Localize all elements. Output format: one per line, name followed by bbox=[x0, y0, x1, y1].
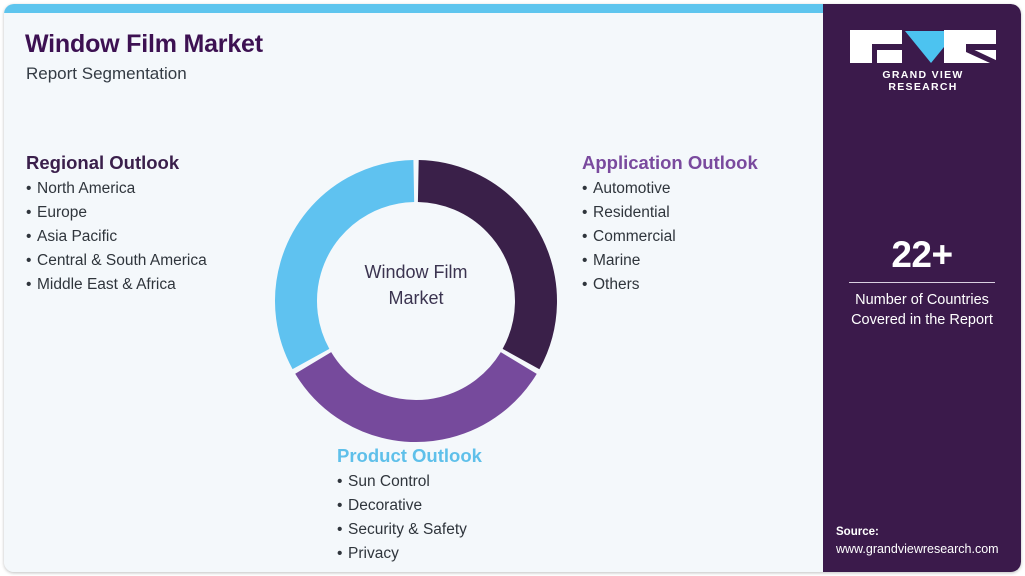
bullet-icon: • bbox=[26, 177, 37, 201]
list-item: •Europe bbox=[26, 201, 207, 225]
list-item-label: Marine bbox=[593, 252, 640, 269]
list-item-label: Asia Pacific bbox=[37, 228, 117, 245]
list-item: •Privacy bbox=[337, 542, 482, 566]
bullet-icon: • bbox=[337, 494, 348, 518]
bullet-icon: • bbox=[26, 225, 37, 249]
list-item-label: Security & Safety bbox=[348, 521, 467, 538]
logo-mark bbox=[850, 30, 996, 63]
list-item: •Security & Safety bbox=[337, 518, 482, 542]
bullet-icon: • bbox=[26, 273, 37, 297]
bullet-icon: • bbox=[26, 201, 37, 225]
product-outlook-block: Product Outlook •Sun Control •Decorative… bbox=[337, 445, 482, 566]
list-item-label: Automotive bbox=[593, 180, 671, 197]
grand-view-research-logo: GRAND VIEW RESEARCH bbox=[850, 30, 996, 82]
list-item-label: Decorative bbox=[348, 497, 422, 514]
regional-outlook-list: •North America •Europe •Asia Pacific •Ce… bbox=[26, 177, 207, 297]
side-panel: GRAND VIEW RESEARCH 22+ Number of Countr… bbox=[823, 4, 1021, 572]
list-item: •Middle East & Africa bbox=[26, 273, 207, 297]
infographic-root: Window Film Market Report Segmentation R… bbox=[0, 0, 1025, 576]
list-item-label: Others bbox=[593, 276, 640, 293]
list-item-label: Sun Control bbox=[348, 473, 430, 490]
application-outlook-heading: Application Outlook bbox=[582, 152, 758, 174]
stat-caption-line-1: Number of Countries bbox=[823, 290, 1021, 310]
bullet-icon: • bbox=[582, 177, 593, 201]
list-item: •Commercial bbox=[582, 225, 758, 249]
list-item-label: Privacy bbox=[348, 545, 399, 562]
list-item: •Decorative bbox=[337, 494, 482, 518]
page-title: Window Film Market bbox=[25, 30, 263, 59]
bullet-icon: • bbox=[337, 470, 348, 494]
donut-chart: Window Film Market bbox=[270, 155, 562, 447]
list-item: •Asia Pacific bbox=[26, 225, 207, 249]
page-subtitle: Report Segmentation bbox=[26, 64, 187, 84]
stat-number: 22+ bbox=[823, 234, 1021, 276]
application-outlook-list: •Automotive •Residential •Commercial •Ma… bbox=[582, 177, 758, 297]
regional-outlook-heading: Regional Outlook bbox=[26, 152, 207, 174]
source-label: Source: bbox=[836, 524, 1021, 540]
list-item-label: Europe bbox=[37, 204, 87, 221]
list-item-label: Middle East & Africa bbox=[37, 276, 176, 293]
product-outlook-list: •Sun Control •Decorative •Security & Saf… bbox=[337, 470, 482, 566]
list-item: •North America bbox=[26, 177, 207, 201]
bullet-icon: • bbox=[582, 249, 593, 273]
bullet-icon: • bbox=[582, 225, 593, 249]
bullet-icon: • bbox=[26, 249, 37, 273]
content-area: Window Film Market Report Segmentation R… bbox=[4, 13, 823, 572]
donut-center-label: Window Film Market bbox=[270, 259, 562, 311]
stat-divider bbox=[849, 282, 995, 283]
list-item-label: North America bbox=[37, 180, 135, 197]
bullet-icon: • bbox=[582, 273, 593, 297]
application-outlook-block: Application Outlook •Automotive •Residen… bbox=[582, 152, 758, 297]
list-item-label: Commercial bbox=[593, 228, 676, 245]
top-accent-bar bbox=[4, 4, 823, 13]
bullet-icon: • bbox=[337, 542, 348, 566]
countries-stat: 22+ Number of Countries Covered in the R… bbox=[823, 234, 1021, 330]
stat-caption-line-2: Covered in the Report bbox=[823, 310, 1021, 330]
list-item: •Central & South America bbox=[26, 249, 207, 273]
list-item: •Automotive bbox=[582, 177, 758, 201]
donut-center-line-1: Window Film bbox=[270, 259, 562, 285]
infographic-card: Window Film Market Report Segmentation R… bbox=[4, 4, 1021, 572]
list-item: •Sun Control bbox=[337, 470, 482, 494]
logo-wordmark: GRAND VIEW RESEARCH bbox=[850, 69, 996, 93]
source-block: Source: www.grandviewresearch.com bbox=[836, 524, 1021, 558]
list-item: •Others bbox=[582, 273, 758, 297]
list-item-label: Residential bbox=[593, 204, 670, 221]
logo-glyphs-icon bbox=[850, 30, 996, 63]
bullet-icon: • bbox=[582, 201, 593, 225]
stat-caption: Number of Countries Covered in the Repor… bbox=[823, 290, 1021, 330]
list-item-label: Central & South America bbox=[37, 252, 207, 269]
bullet-icon: • bbox=[337, 518, 348, 542]
product-outlook-heading: Product Outlook bbox=[337, 445, 482, 467]
list-item: •Residential bbox=[582, 201, 758, 225]
regional-outlook-block: Regional Outlook •North America •Europe … bbox=[26, 152, 207, 297]
source-url[interactable]: www.grandviewresearch.com bbox=[836, 540, 1021, 558]
list-item: •Marine bbox=[582, 249, 758, 273]
donut-center-line-2: Market bbox=[270, 285, 562, 311]
